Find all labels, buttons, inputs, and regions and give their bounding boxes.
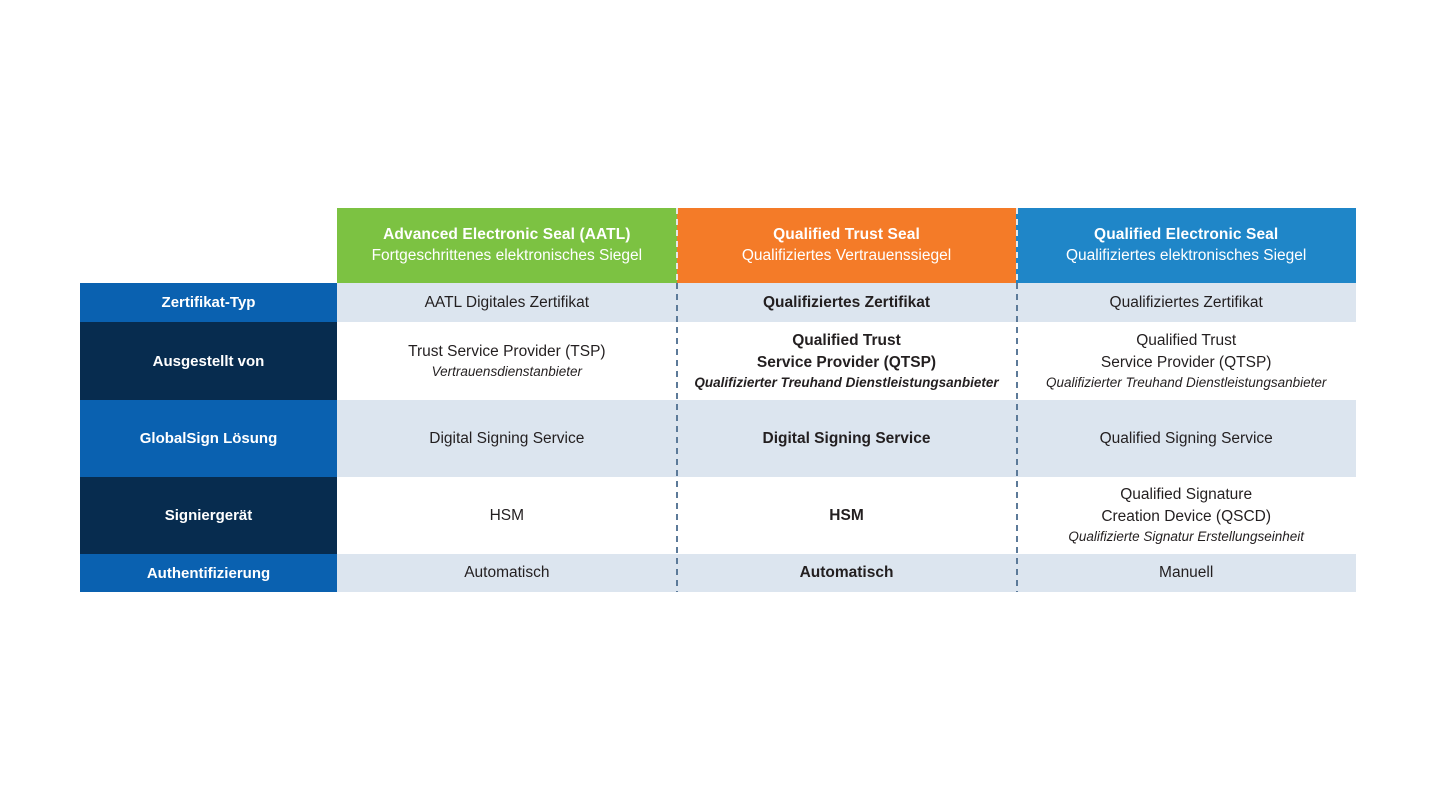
row-label: Ausgestellt von [80, 322, 337, 400]
column-header-title: Advanced Electronic Seal (AATL) [383, 225, 630, 246]
table-cell: Qualified TrustService Provider (QTSP)Qu… [677, 322, 1017, 400]
table-body: Zertifikat-TypAATL Digitales ZertifikatQ… [80, 283, 1356, 592]
cell-line: Service Provider (QTSP) [1101, 352, 1272, 374]
cell-line: Automatisch [800, 562, 894, 584]
table-cell: Qualified SignatureCreation Device (QSCD… [1016, 477, 1356, 554]
table-cell: Manuell [1016, 554, 1356, 592]
header-corner-spacer [80, 208, 337, 283]
cell-line: Creation Device (QSCD) [1101, 506, 1271, 528]
seal-comparison-table: Advanced Electronic Seal (AATL) Fortgesc… [80, 208, 1356, 592]
table-cell: Trust Service Provider (TSP)Vertrauensdi… [337, 322, 677, 400]
column-divider-header-2 [1016, 208, 1018, 283]
cell-line: Qualified Trust [1136, 330, 1236, 352]
cell-line: AATL Digitales Zertifikat [425, 292, 590, 314]
cell-line: Qualified Trust [792, 330, 901, 352]
table-cell: Qualifiziertes Zertifikat [677, 283, 1017, 322]
cell-line: Qualified Signing Service [1100, 428, 1273, 450]
cell-line: Digital Signing Service [429, 428, 584, 450]
cell-translation-line: Vertrauensdienstanbieter [432, 363, 582, 382]
table-row: AuthentifizierungAutomatischAutomatischM… [80, 554, 1356, 592]
table-cell: HSM [337, 477, 677, 554]
cell-line: Qualified Signature [1120, 484, 1252, 506]
table-cell: HSM [677, 477, 1017, 554]
table-cell: AATL Digitales Zertifikat [337, 283, 677, 322]
table-cell: Qualified Signing Service [1016, 400, 1356, 477]
column-header-subtitle: Qualifiziertes elektronisches Siegel [1066, 246, 1306, 267]
table-cell: Automatisch [337, 554, 677, 592]
row-label: Signiergerät [80, 477, 337, 554]
table-cell: Automatisch [677, 554, 1017, 592]
row-label: Zertifikat-Typ [80, 283, 337, 322]
table-row: SigniergerätHSMHSMQualified SignatureCre… [80, 477, 1356, 554]
cell-line: Automatisch [464, 562, 549, 584]
table-row: GlobalSign LösungDigital Signing Service… [80, 400, 1356, 477]
table-row: Ausgestellt vonTrust Service Provider (T… [80, 322, 1356, 400]
table-header-row: Advanced Electronic Seal (AATL) Fortgesc… [80, 208, 1356, 283]
row-label: Authentifizierung [80, 554, 337, 592]
cell-line: Qualifiziertes Zertifikat [763, 292, 930, 314]
column-divider-2 [1016, 283, 1018, 592]
table-cell: Digital Signing Service [337, 400, 677, 477]
column-header-subtitle: Qualifiziertes Vertrauenssiegel [742, 246, 951, 267]
cell-line: Trust Service Provider (TSP) [408, 341, 606, 363]
column-header-title: Qualified Trust Seal [773, 225, 920, 246]
column-header-subtitle: Fortgeschrittenes elektronisches Siegel [372, 246, 643, 267]
cell-translation-line: Qualifizierter Treuhand Dienstleistungsa… [694, 374, 998, 393]
column-header-qualified-electronic-seal: Qualified Electronic Seal Qualifiziertes… [1016, 208, 1356, 283]
cell-line: Digital Signing Service [763, 428, 931, 450]
table-cell: Qualifiziertes Zertifikat [1016, 283, 1356, 322]
column-divider-1 [676, 283, 678, 592]
cell-line: HSM [490, 505, 524, 527]
cell-translation-line: Qualifizierter Treuhand Dienstleistungsa… [1046, 374, 1326, 393]
column-header-title: Qualified Electronic Seal [1094, 225, 1278, 246]
row-label: GlobalSign Lösung [80, 400, 337, 477]
column-header-qualified-trust-seal: Qualified Trust Seal Qualifiziertes Vert… [677, 208, 1017, 283]
cell-translation-line: Qualifizierte Signatur Erstellungseinhei… [1068, 528, 1304, 547]
cell-line: Qualifiziertes Zertifikat [1110, 292, 1263, 314]
cell-line: Service Provider (QTSP) [757, 352, 936, 374]
table-cell: Qualified TrustService Provider (QTSP)Qu… [1016, 322, 1356, 400]
table-row: Zertifikat-TypAATL Digitales ZertifikatQ… [80, 283, 1356, 322]
table-cell: Digital Signing Service [677, 400, 1017, 477]
column-divider-header-1 [676, 208, 678, 283]
cell-line: Manuell [1159, 562, 1213, 584]
cell-line: HSM [829, 505, 863, 527]
column-header-aatl: Advanced Electronic Seal (AATL) Fortgesc… [337, 208, 677, 283]
